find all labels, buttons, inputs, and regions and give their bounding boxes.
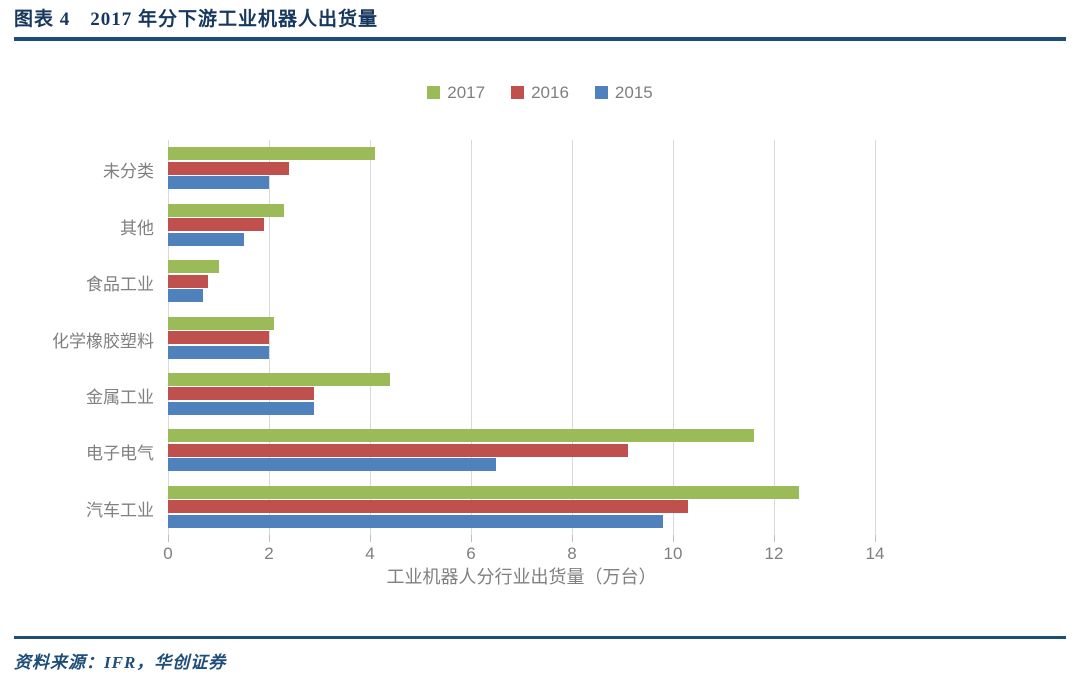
bar-2015 [168, 346, 269, 359]
bar-2015 [168, 289, 203, 302]
x-tick-mark [572, 535, 573, 542]
bar-2016 [168, 275, 208, 288]
bar-group: 金属工业 [168, 373, 875, 415]
legend-label: 2017 [447, 84, 485, 101]
y-axis-category-label: 未分类 [0, 157, 168, 182]
x-tick-label: 12 [765, 544, 784, 564]
bar-2017 [168, 429, 754, 442]
x-tick-label: 0 [163, 544, 172, 564]
bar-2015 [168, 233, 244, 246]
x-tick-mark [370, 535, 371, 542]
legend-swatch-icon [427, 86, 440, 99]
bar-2016 [168, 444, 628, 457]
legend-swatch-icon [511, 86, 524, 99]
y-axis-category-label: 金属工业 [0, 383, 168, 408]
page-title: 图表 4 2017 年分下游工业机器人出货量 [14, 4, 378, 31]
x-tick-label: 8 [567, 544, 576, 564]
y-axis-category-label: 汽车工业 [0, 496, 168, 521]
bar-2015 [168, 515, 663, 528]
x-tick-label: 4 [365, 544, 374, 564]
bar-2017 [168, 260, 219, 273]
y-axis-category-label: 电子电气 [0, 439, 168, 464]
bar-2015 [168, 402, 314, 415]
bar-2015 [168, 458, 496, 471]
bar-2017 [168, 147, 375, 160]
bar-group: 其他 [168, 204, 875, 246]
bar-2017 [168, 204, 284, 217]
figure-header: 图表 4 2017 年分下游工业机器人出货量 [0, 0, 1080, 44]
chart-legend: 201720162015 [0, 84, 1080, 101]
bar-2017 [168, 373, 390, 386]
x-tick-mark [269, 535, 270, 542]
bar-group: 汽车工业 [168, 486, 875, 528]
x-tick-mark [875, 535, 876, 542]
legend-entry-2016: 2016 [511, 84, 569, 101]
legend-swatch-icon [595, 86, 608, 99]
x-tick-mark [774, 535, 775, 542]
bar-group: 食品工业 [168, 260, 875, 302]
x-tick-mark [471, 535, 472, 542]
x-axis-title: 工业机器人分行业出货量（万台） [168, 563, 875, 589]
bar-2016 [168, 162, 289, 175]
legend-entry-2017: 2017 [427, 84, 485, 101]
bar-group: 电子电气 [168, 429, 875, 471]
legend-entry-2015: 2015 [595, 84, 653, 101]
x-tick-mark [673, 535, 674, 542]
bar-2016 [168, 387, 314, 400]
bar-group: 化学橡胶塑料 [168, 317, 875, 359]
bar-2016 [168, 331, 269, 344]
plot-area: 02468101214未分类其他食品工业化学橡胶塑料金属工业电子电气汽车工业 [168, 140, 875, 535]
header-divider [14, 37, 1066, 41]
source-note: 资料来源：IFR，华创证券 [14, 648, 226, 673]
x-tick-label: 10 [664, 544, 683, 564]
bar-2017 [168, 486, 799, 499]
legend-label: 2016 [531, 84, 569, 101]
x-tick-label: 14 [866, 544, 885, 564]
y-axis-category-label: 化学橡胶塑料 [0, 327, 168, 352]
bar-chart: 02468101214未分类其他食品工业化学橡胶塑料金属工业电子电气汽车工业 工… [0, 120, 1080, 620]
bar-group: 未分类 [168, 147, 875, 189]
bar-2017 [168, 317, 274, 330]
bar-2016 [168, 218, 264, 231]
x-tick-label: 6 [466, 544, 475, 564]
y-axis-category-label: 其他 [0, 214, 168, 239]
x-tick-mark [168, 535, 169, 542]
footer-divider [14, 636, 1066, 639]
y-axis-category-label: 食品工业 [0, 270, 168, 295]
x-gridline [875, 140, 876, 535]
x-tick-label: 2 [264, 544, 273, 564]
legend-label: 2015 [615, 84, 653, 101]
bar-2015 [168, 176, 269, 189]
bar-2016 [168, 500, 688, 513]
